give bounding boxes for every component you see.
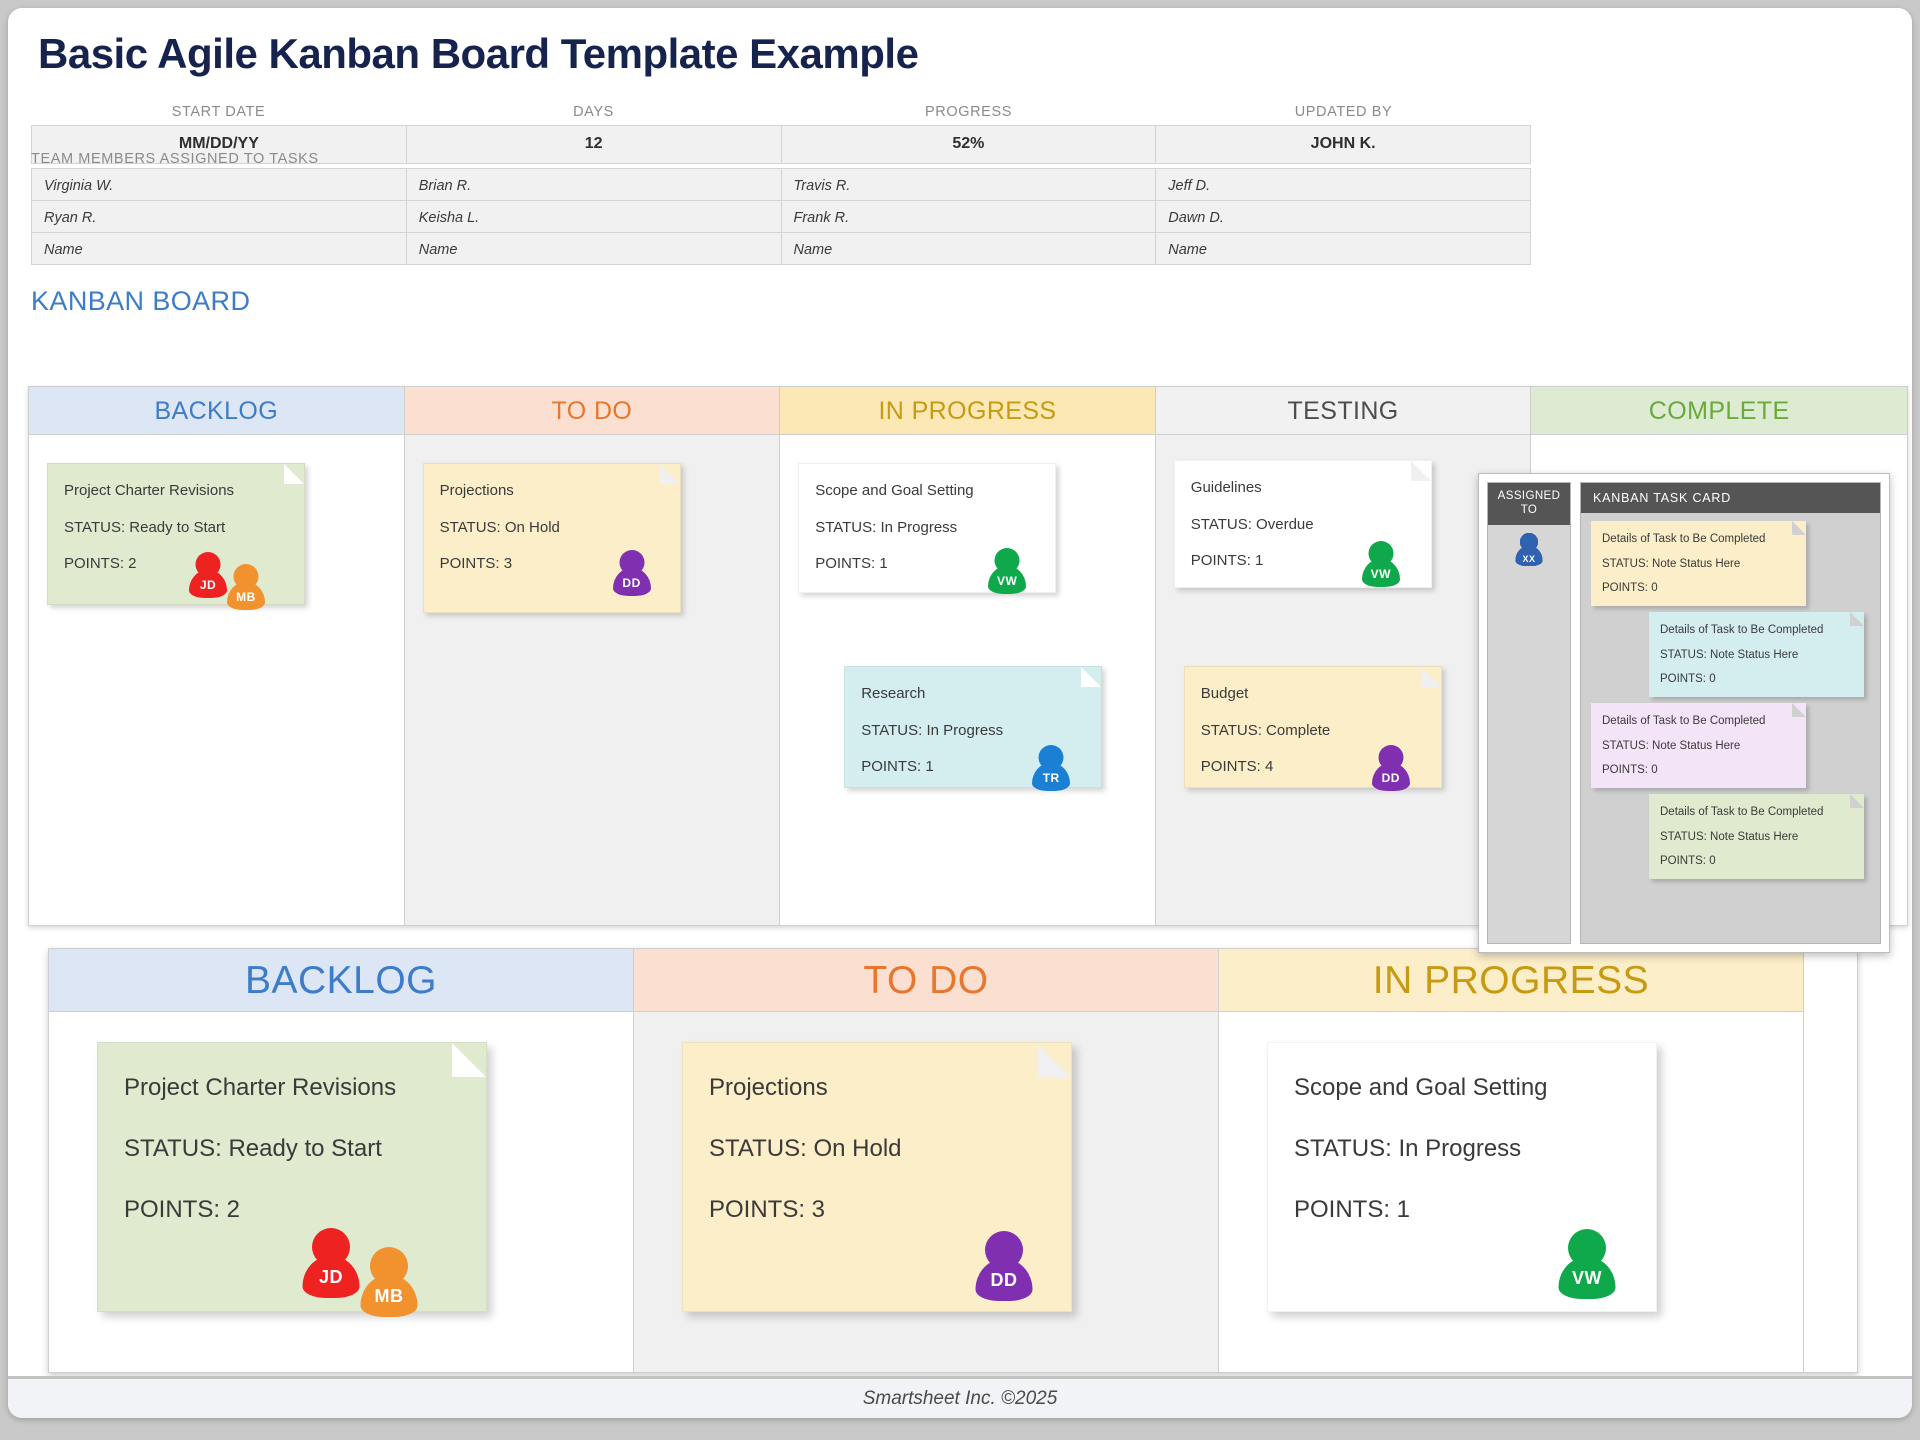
column-body-todo[interactable]: Projections STATUS: On Hold POINTS: 3 DD — [405, 435, 780, 925]
task-card[interactable]: Research STATUS: In Progress POINTS: 1 T… — [844, 666, 1102, 788]
avatar-pin-vw[interactable]: VW — [1557, 1229, 1617, 1299]
team-cell[interactable]: Name — [1156, 233, 1530, 265]
kanban-board-zoomed: BACKLOG Project Charter Revisions STATUS… — [48, 948, 1858, 1373]
summary-value-days[interactable]: 12 — [407, 126, 782, 163]
task-card[interactable]: Project Charter Revisions STATUS: Ready … — [97, 1042, 487, 1312]
task-card-title: Project Charter Revisions — [124, 1069, 460, 1106]
task-card-points: POINTS: 0 — [1660, 671, 1853, 688]
table-row: Virginia W. Brian R. Travis R. Jeff D. — [32, 169, 1530, 201]
team-cell[interactable]: Travis R. — [782, 169, 1157, 201]
task-card-status: STATUS: Overdue — [1191, 514, 1415, 537]
page-title: Basic Agile Kanban Board Template Exampl… — [38, 30, 918, 78]
task-card-points: POINTS: 0 — [1602, 762, 1795, 779]
column-header-testing: TESTING — [1156, 387, 1531, 435]
team-members-table: Virginia W. Brian R. Travis R. Jeff D. R… — [31, 168, 1531, 265]
table-row: Name Name Name Name — [32, 233, 1530, 265]
assigned-to-header: ASSIGNED TO — [1488, 483, 1570, 525]
task-card[interactable]: Scope and Goal Setting STATUS: In Progre… — [798, 463, 1056, 593]
avatar-pin-xx-2[interactable]: XX — [1515, 533, 1543, 566]
kanban-task-card-panel: KANBAN TASK CARD Details of Task to Be C… — [1580, 482, 1881, 944]
column-header-in-progress: IN PROGRESS — [780, 387, 1155, 435]
kanban-task-card-header: KANBAN TASK CARD — [1581, 483, 1880, 513]
task-card-title: Details of Task to Be Completed — [1602, 713, 1795, 730]
assigned-to-panel: ASSIGNED TO VW BR TR JD — [1487, 482, 1571, 944]
team-cell[interactable]: Ryan R. — [32, 201, 407, 233]
avatar-initials: JD — [189, 570, 227, 598]
summary-label-progress: PROGRESS — [781, 104, 1156, 125]
task-card-title: Projections — [709, 1069, 1045, 1106]
avatar-initials: MB — [361, 1275, 418, 1317]
board-column-testing: TESTING Guidelines STATUS: Overdue POINT… — [1156, 387, 1532, 925]
avatar-initials: VW — [1362, 559, 1400, 587]
task-card[interactable]: Budget STATUS: Complete POINTS: 4 DD — [1184, 666, 1442, 788]
zoom-column-body-todo[interactable]: Projections STATUS: On Hold POINTS: 3 DD — [634, 1012, 1218, 1372]
kanban-board-heading: KANBAN BOARD — [31, 286, 250, 317]
summary-label-days: DAYS — [406, 104, 781, 125]
avatar-initials: XX — [1516, 546, 1543, 566]
task-card-status: STATUS: Complete — [1201, 720, 1425, 743]
team-cell[interactable]: Name — [407, 233, 782, 265]
assigned-to-list: VW BR TR JD RR — [1488, 525, 1570, 539]
task-card-title: Projections — [440, 480, 664, 503]
column-body-testing[interactable]: Guidelines STATUS: Overdue POINTS: 1 VW … — [1156, 435, 1531, 925]
task-card-title: Project Charter Revisions — [64, 480, 288, 503]
team-members-label: TEAM MEMBERS ASSIGNED TO TASKS — [31, 151, 319, 167]
task-card-status: STATUS: On Hold — [709, 1130, 1045, 1167]
template-task-card[interactable]: Details of Task to Be Completed STATUS: … — [1591, 521, 1806, 606]
column-header-todo: TO DO — [405, 387, 780, 435]
task-card-status: STATUS: Ready to Start — [64, 517, 288, 540]
task-card-status: STATUS: Ready to Start — [124, 1130, 460, 1167]
summary-value-progress[interactable]: 52% — [782, 126, 1157, 163]
task-card[interactable]: Projections STATUS: On Hold POINTS: 3 DD — [423, 463, 681, 613]
task-card-points: POINTS: 0 — [1602, 580, 1795, 597]
footer: Smartsheet Inc. ©2025 — [8, 1376, 1912, 1418]
zoom-column-header-backlog: BACKLOG — [49, 949, 633, 1012]
zoom-column-header-in-progress: IN PROGRESS — [1219, 949, 1803, 1012]
column-body-in-progress[interactable]: Scope and Goal Setting STATUS: In Progre… — [780, 435, 1155, 925]
avatar-pin-vw[interactable]: VW — [987, 548, 1027, 594]
task-card[interactable]: Projections STATUS: On Hold POINTS: 3 DD — [682, 1042, 1072, 1312]
team-cell[interactable]: Name — [782, 233, 1157, 265]
avatar-initials: TR — [1032, 763, 1070, 791]
avatar-pin-dd[interactable]: DD — [1371, 745, 1411, 791]
avatar-initials: DD — [1372, 763, 1410, 791]
task-card-status: STATUS: In Progress — [861, 720, 1085, 743]
task-card-points: POINTS: 0 — [1660, 853, 1853, 870]
task-card-title: Details of Task to Be Completed — [1660, 804, 1853, 821]
task-card-points: POINTS: 2 — [124, 1191, 460, 1228]
avatar-initials: VW — [988, 566, 1026, 594]
avatar-pin-dd[interactable]: DD — [612, 550, 652, 596]
table-row: Ryan R. Keisha L. Frank R. Dawn D. — [32, 201, 1530, 233]
zoom-column-body-in-progress[interactable]: Scope and Goal Setting STATUS: In Progre… — [1219, 1012, 1803, 1372]
task-card-title: Details of Task to Be Completed — [1602, 531, 1795, 548]
team-cell[interactable]: Brian R. — [407, 169, 782, 201]
avatar-pin-vw[interactable]: VW — [1361, 541, 1401, 587]
task-card[interactable]: Project Charter Revisions STATUS: Ready … — [47, 463, 305, 605]
task-card-status: STATUS: In Progress — [1294, 1130, 1630, 1167]
avatar-initials: DD — [613, 568, 651, 596]
summary-label-start-date: START DATE — [31, 104, 406, 125]
avatar-pin-dd[interactable]: DD — [974, 1231, 1034, 1301]
task-card[interactable]: Scope and Goal Setting STATUS: In Progre… — [1267, 1042, 1657, 1312]
task-card-title: Scope and Goal Setting — [815, 480, 1039, 503]
board-column-todo: TO DO Projections STATUS: On Hold POINTS… — [405, 387, 781, 925]
column-header-backlog: BACKLOG — [29, 387, 404, 435]
task-card-title: Budget — [1201, 683, 1425, 706]
avatar-pin-jd[interactable]: JD — [188, 552, 228, 598]
template-task-card[interactable]: Details of Task to Be Completed STATUS: … — [1649, 794, 1864, 879]
task-card-status: STATUS: Note Status Here — [1660, 829, 1853, 846]
task-card[interactable]: Guidelines STATUS: Overdue POINTS: 1 VW — [1174, 460, 1432, 588]
task-card-title: Details of Task to Be Completed — [1660, 622, 1853, 639]
team-cell[interactable]: Dawn D. — [1156, 201, 1530, 233]
legend-overlay-panel: ASSIGNED TO VW BR TR JD — [1478, 473, 1890, 953]
task-card-title: Scope and Goal Setting — [1294, 1069, 1630, 1106]
team-cell[interactable]: Jeff D. — [1156, 169, 1530, 201]
column-header-complete: COMPLETE — [1531, 387, 1907, 435]
avatar-pin-jd[interactable]: JD — [301, 1228, 361, 1298]
template-task-card[interactable]: Details of Task to Be Completed STATUS: … — [1649, 612, 1864, 697]
task-card-status: STATUS: On Hold — [440, 517, 664, 540]
summary-label-updated-by: UPDATED BY — [1156, 104, 1531, 125]
task-card-points: POINTS: 1 — [1294, 1191, 1630, 1228]
task-card-points: POINTS: 3 — [709, 1191, 1045, 1228]
zoom-column-todo: TO DO Projections STATUS: On Hold POINTS… — [634, 949, 1219, 1372]
team-cell[interactable]: Keisha L. — [407, 201, 782, 233]
avatar-initials: JD — [303, 1256, 360, 1298]
task-card-status: STATUS: In Progress — [815, 517, 1039, 540]
avatar-pin-mb[interactable]: MB — [359, 1247, 419, 1317]
avatar-initials: DD — [976, 1259, 1033, 1301]
avatar-initials: VW — [1559, 1257, 1616, 1299]
column-body-backlog[interactable]: Project Charter Revisions STATUS: Ready … — [29, 435, 404, 925]
summary-label-row: START DATE DAYS PROGRESS UPDATED BY — [31, 104, 1531, 125]
assigned-to-title-line2: TO — [1490, 503, 1568, 517]
task-card-status: STATUS: Note Status Here — [1602, 556, 1795, 573]
page-sheet: Basic Agile Kanban Board Template Exampl… — [8, 8, 1912, 1418]
zoom-column-backlog: BACKLOG Project Charter Revisions STATUS… — [49, 949, 634, 1372]
avatar-pin-mb[interactable]: MB — [226, 564, 266, 610]
task-card-status: STATUS: Note Status Here — [1660, 647, 1853, 664]
zoom-column-header-todo: TO DO — [634, 949, 1218, 1012]
task-card-title: Guidelines — [1191, 477, 1415, 500]
task-card-status: STATUS: Note Status Here — [1602, 738, 1795, 755]
team-cell[interactable]: Name — [32, 233, 407, 265]
team-cell[interactable]: Frank R. — [782, 201, 1157, 233]
footer-copyright: Smartsheet Inc. ©2025 — [863, 1388, 1058, 1410]
assigned-to-title-line1: ASSIGNED — [1490, 489, 1568, 503]
zoom-column-body-backlog[interactable]: Project Charter Revisions STATUS: Ready … — [49, 1012, 633, 1372]
task-card-title: Research — [861, 683, 1085, 706]
team-cell[interactable]: Virginia W. — [32, 169, 407, 201]
template-task-card[interactable]: Details of Task to Be Completed STATUS: … — [1591, 703, 1806, 788]
kanban-task-card-list: Details of Task to Be Completed STATUS: … — [1581, 513, 1880, 895]
avatar-pin-tr[interactable]: TR — [1031, 745, 1071, 791]
summary-value-updated-by[interactable]: JOHN K. — [1156, 126, 1530, 163]
board-column-backlog: BACKLOG Project Charter Revisions STATUS… — [29, 387, 405, 925]
zoom-column-in-progress: IN PROGRESS Scope and Goal Setting STATU… — [1219, 949, 1804, 1372]
avatar-initials: MB — [227, 582, 265, 610]
board-column-in-progress: IN PROGRESS Scope and Goal Setting STATU… — [780, 387, 1156, 925]
